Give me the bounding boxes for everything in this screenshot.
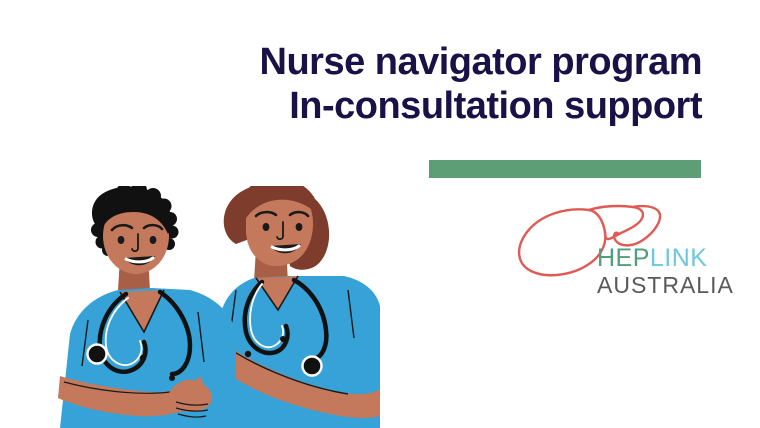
nurse-right-figure	[216, 186, 380, 428]
nurse-right-stethoscope-dot-a	[245, 351, 251, 357]
green-rule-divider	[429, 160, 701, 178]
nurse-right-stethoscope-chestpiece	[303, 357, 322, 376]
title-line-2: In-consultation support	[120, 84, 702, 128]
logo-word-australia: AUSTRALIA	[597, 274, 734, 297]
nurse-left-stethoscope-dot-b	[169, 375, 175, 381]
nurse-left-eye-right	[150, 236, 157, 244]
logo-word-hep: HEP	[597, 244, 650, 272]
nurse-right-eye-right	[296, 223, 303, 231]
logo-word-link: LINK	[650, 244, 708, 272]
logo-wordmark: HEPLINK AUSTRALIA	[597, 246, 734, 297]
nurse-right-stethoscope-dot-b	[280, 336, 286, 342]
two-nurses-illustration	[40, 186, 380, 428]
nurse-left-eye-left	[118, 236, 125, 244]
nurse-left-figure	[58, 186, 236, 428]
page-title: Nurse navigator program In-consultation …	[120, 40, 702, 128]
nurse-left-stethoscope-dot-a	[140, 355, 146, 361]
nurse-left-stethoscope-chestpiece	[88, 345, 107, 364]
slide-canvas: Nurse navigator program In-consultation …	[0, 0, 760, 428]
nurses-vector-art	[40, 186, 380, 428]
title-line-1: Nurse navigator program	[120, 40, 702, 84]
nurse-right-eye-left	[263, 223, 270, 231]
heplink-australia-logo: HEPLINK AUSTRALIA	[515, 198, 715, 298]
